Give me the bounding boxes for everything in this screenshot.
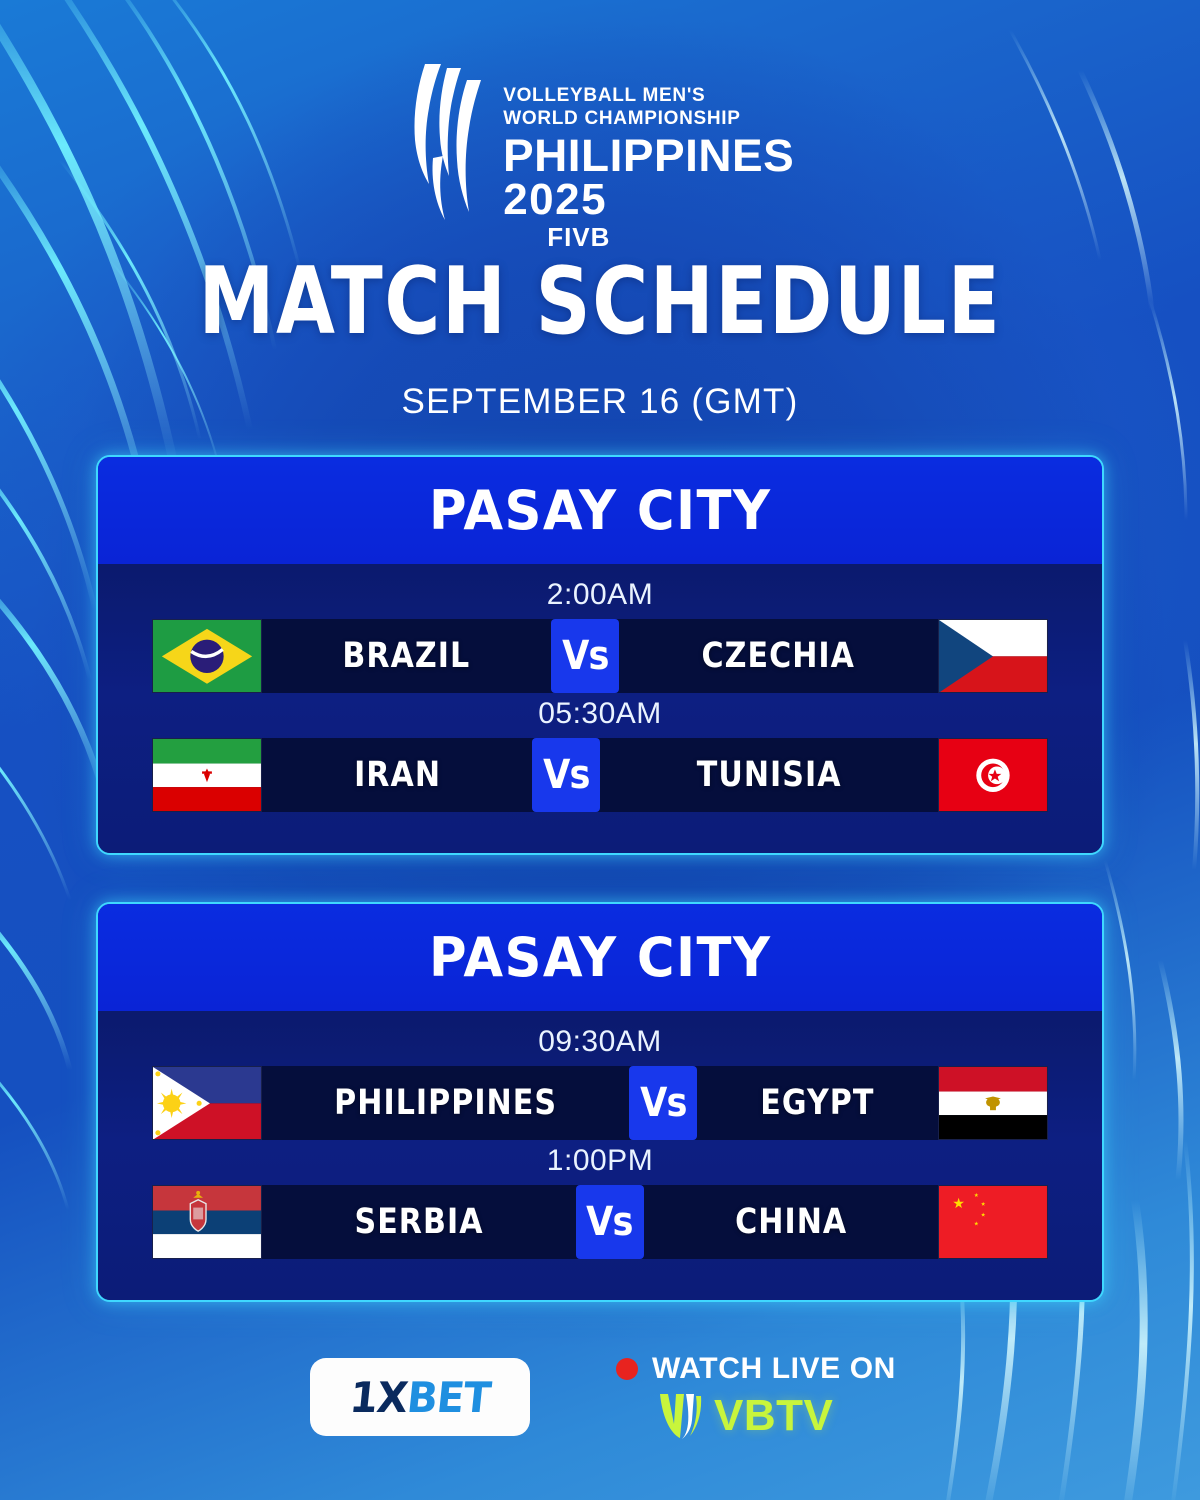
match-time: 2:00AM: [98, 578, 1102, 612]
egypt-flag: [938, 1066, 1048, 1140]
vs-badge: Vs: [532, 738, 600, 812]
venue-card: PASAY CITY 09:30AM: [96, 902, 1104, 1302]
venue-matches: 09:30AM: [98, 1011, 1102, 1300]
vs-badge: Vs: [551, 619, 619, 693]
watch-live-label: WATCH LIVE ON: [652, 1352, 896, 1386]
home-team: BRAZIL: [262, 619, 551, 693]
poster: VOLLEYBALL MEN'S WORLD CHAMPIONSHIP PHIL…: [0, 0, 1200, 1500]
venue-matches: 2:00AM BRAZIL V: [98, 564, 1102, 853]
philippines-flag: [152, 1066, 262, 1140]
live-dot-icon: [616, 1358, 638, 1380]
away-team: CHINA: [644, 1185, 938, 1259]
venue-header: PASAY CITY: [98, 457, 1102, 564]
venue-name: PASAY CITY: [429, 479, 771, 542]
away-team: TUNISIA: [600, 738, 938, 812]
away-team: EGYPT: [697, 1066, 938, 1140]
fivb-player-icon: [411, 62, 489, 222]
logo-line-1: VOLLEYBALL MEN'S: [503, 84, 789, 107]
vs-badge: Vs: [576, 1185, 644, 1259]
match-row: 2:00AM BRAZIL V: [98, 578, 1102, 693]
venue-header: PASAY CITY: [98, 904, 1102, 1011]
footer: 1XBET WATCH LIVE ON VBTV: [0, 1352, 1200, 1462]
event-logo: VOLLEYBALL MEN'S WORLD CHAMPIONSHIP PHIL…: [0, 62, 1200, 251]
logo-line-4: 2025: [503, 178, 789, 221]
tunisia-flag: [938, 738, 1048, 812]
match-row: 05:30AM IRAN: [98, 697, 1102, 812]
vbtv-logo-icon: [656, 1390, 704, 1442]
vs-label: Vs: [543, 752, 589, 798]
home-team-name: BRAZIL: [343, 636, 471, 676]
away-team-name: EGYPT: [761, 1083, 875, 1123]
away-team-name: TUNISIA: [697, 755, 842, 795]
home-team-name: IRAN: [354, 755, 441, 795]
away-team: CZECHIA: [619, 619, 938, 693]
serbia-flag: [152, 1185, 262, 1259]
watch-live-block: WATCH LIVE ON VBTV: [616, 1352, 916, 1442]
match-time: 09:30AM: [98, 1025, 1102, 1059]
page-subtitle: SEPTEMBER 16 (GMT): [0, 382, 1200, 422]
away-team-name: CHINA: [735, 1202, 847, 1242]
vs-badge: Vs: [629, 1066, 697, 1140]
brazil-flag: [152, 619, 262, 693]
match-time: 1:00PM: [98, 1144, 1102, 1178]
vs-label: Vs: [640, 1080, 686, 1126]
match-time: 05:30AM: [98, 697, 1102, 731]
china-flag: [938, 1185, 1048, 1259]
home-team: PHILIPPINES: [262, 1066, 629, 1140]
sponsor-1xbet-logo[interactable]: 1XBET: [310, 1358, 530, 1436]
sponsor-logo-bet: BET: [405, 1373, 493, 1422]
broadcaster-name: VBTV: [714, 1391, 833, 1441]
page-title: MATCH SCHEDULE: [108, 253, 1092, 349]
logo-line-3: PHILIPPINES: [503, 134, 794, 178]
home-team: IRAN: [262, 738, 532, 812]
away-team-name: CZECHIA: [702, 636, 855, 676]
logo-line-2: WORLD CHAMPIONSHIP: [503, 107, 789, 130]
match-row: 1:00PM: [98, 1144, 1102, 1259]
match-row: 09:30AM: [98, 1025, 1102, 1140]
iran-flag: [152, 738, 262, 812]
czechia-flag: [938, 619, 1048, 693]
home-team: SERBIA: [262, 1185, 576, 1259]
sponsor-logo-x: X: [375, 1373, 410, 1422]
home-team-name: PHILIPPINES: [334, 1083, 557, 1123]
venue-card: PASAY CITY 2:00AM BRAZI: [96, 455, 1104, 855]
vs-label: Vs: [587, 1199, 633, 1245]
home-team-name: SERBIA: [354, 1202, 483, 1242]
vs-label: Vs: [562, 633, 608, 679]
venue-name: PASAY CITY: [429, 926, 771, 989]
